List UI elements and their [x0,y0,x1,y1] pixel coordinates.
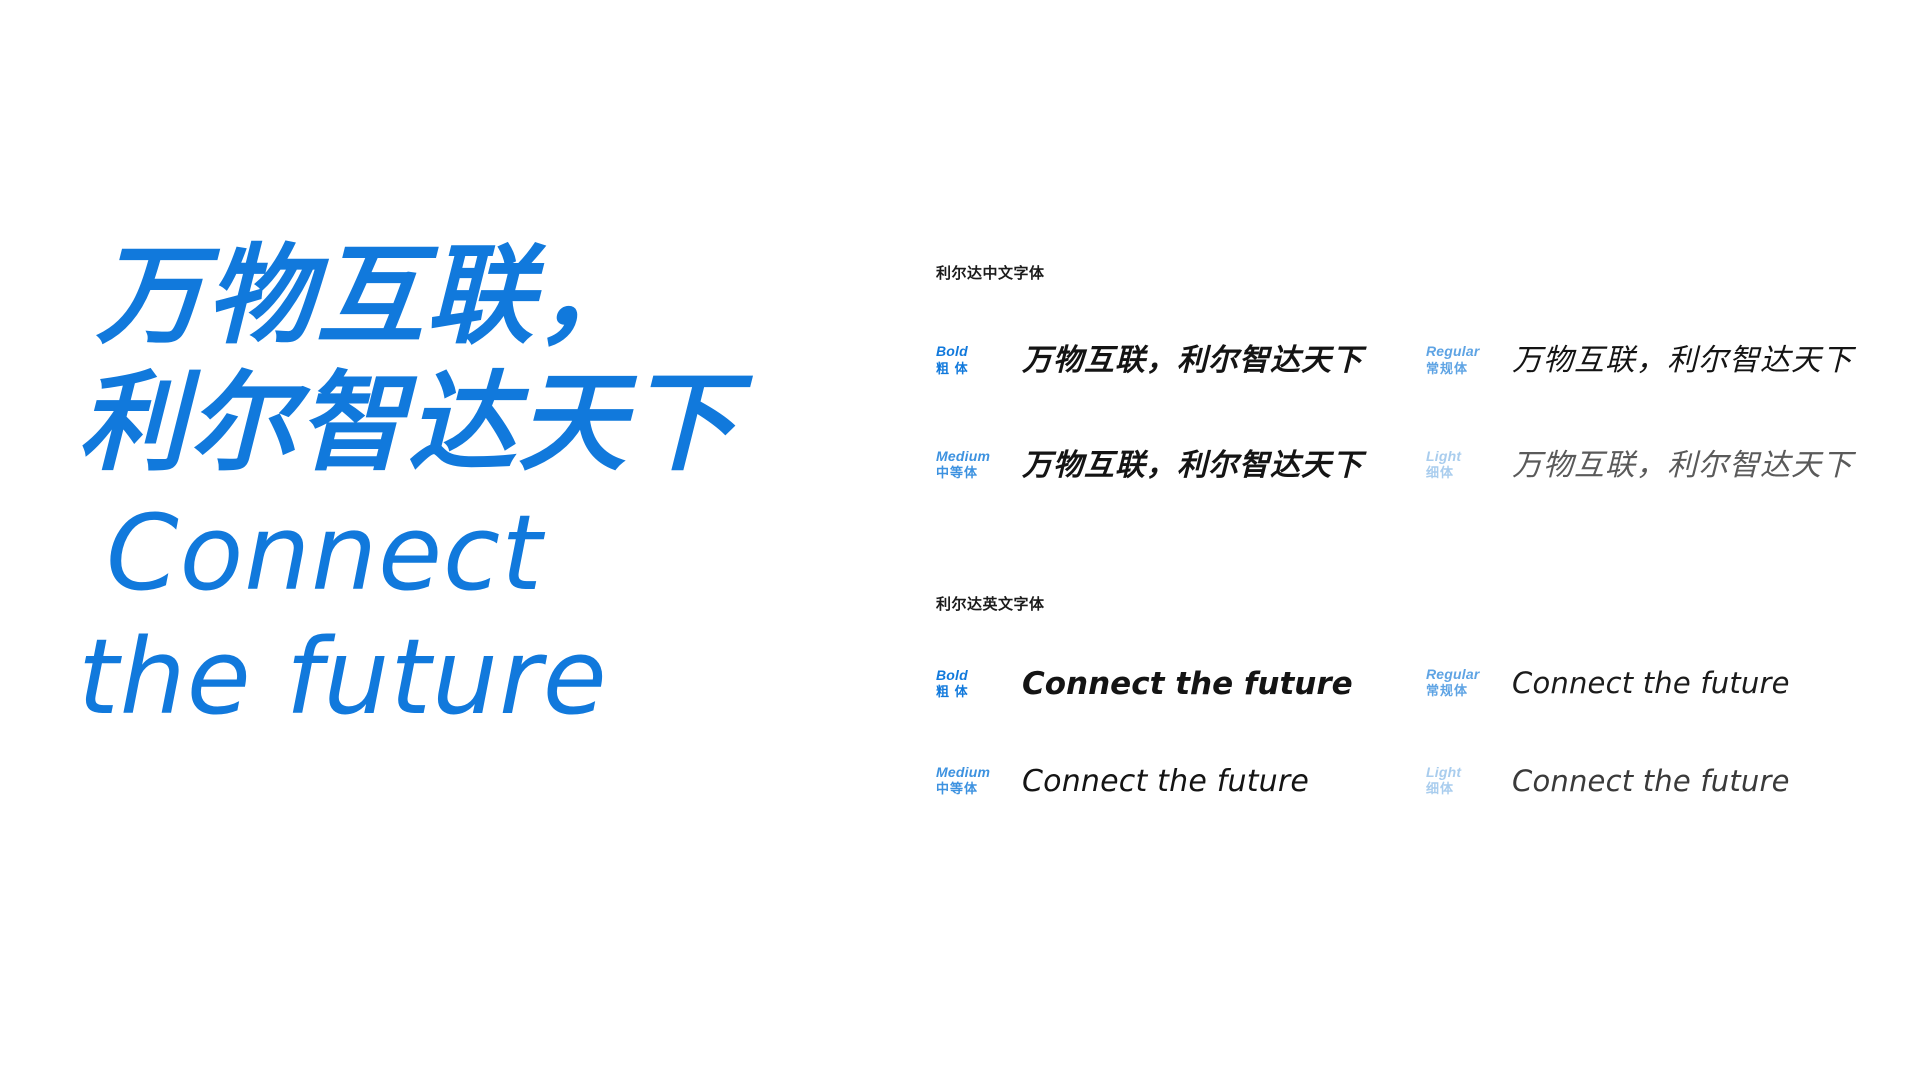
section-english-typeface: 利尔达英文字体 Bold 粗 体 Connect the future Regu… [936,593,1856,811]
weight-label-cn: 细体 [1426,465,1512,480]
specimen-row-cn-regular: Regular 常规体 万物互联，利尔智达天下 [1426,335,1856,390]
specimen-sample-cn-medium: 万物互联，利尔智达天下 [1022,440,1363,484]
weight-label-en: Bold [936,667,1022,684]
weight-label-cn: 粗 体 [936,684,1022,699]
specimen-row-en-bold: Bold 粗 体 Connect the future [936,666,1426,714]
specimen-sample-cn-regular: 万物互联，利尔智达天下 [1512,335,1853,379]
specimen-grid-chinese: Bold 粗 体 万物互联，利尔智达天下 Regular 常规体 万物互联，利尔… [936,335,1856,495]
hero-chinese-line-1: 万物互联， [96,232,856,359]
weight-label-en-regular: Regular 常规体 [1426,666,1512,699]
specimen-sample-cn-light: 万物互联，利尔智达天下 [1512,440,1853,484]
specimen-row-cn-medium: Medium 中等体 万物互联，利尔智达天下 [936,440,1426,495]
weight-label-cn: 常规体 [1426,683,1512,698]
weight-label-en-light: Light 细体 [1426,764,1512,797]
hero-block: 万物互联， 利尔智达天下 Connect the future [96,232,856,736]
weight-label-en: Light [1426,448,1512,465]
hero-english-line-2: the future [78,619,856,735]
specimen-row-en-medium: Medium 中等体 Connect the future [936,764,1426,811]
specimen-row-cn-light: Light 细体 万物互联，利尔智达天下 [1426,440,1856,495]
specimen-grid-english: Bold 粗 体 Connect the future Regular 常规体 … [936,666,1856,811]
weight-label-cn-bold: Bold 粗 体 [936,343,1022,376]
weight-label-cn: 常规体 [1426,361,1512,376]
specimen-sample-cn-bold: 万物互联，利尔智达天下 [1022,335,1363,379]
specimen-sample-en-bold: Connect the future [1022,666,1353,702]
weight-label-en-medium: Medium 中等体 [936,764,1022,797]
weight-label-cn-regular: Regular 常规体 [1426,343,1512,376]
specimen-row-en-regular: Regular 常规体 Connect the future [1426,666,1856,714]
weight-label-cn: 中等体 [936,781,1022,796]
weight-label-cn-medium: Medium 中等体 [936,448,1022,481]
weight-label-en: Medium [936,764,1022,781]
typography-specimen-page: 万物互联， 利尔智达天下 Connect the future 利尔达中文字体 … [0,0,1920,1080]
weight-label-en: Light [1426,764,1512,781]
specimen-panel: 利尔达中文字体 Bold 粗 体 万物互联，利尔智达天下 Regular 常规体… [936,262,1856,810]
weight-label-cn: 中等体 [936,465,1022,480]
section-title-chinese: 利尔达中文字体 [936,262,1856,283]
specimen-sample-en-medium: Connect the future [1022,764,1309,799]
specimen-row-cn-bold: Bold 粗 体 万物互联，利尔智达天下 [936,335,1426,390]
weight-label-cn: 粗 体 [936,361,1022,376]
weight-label-en: Regular [1426,343,1512,360]
weight-label-en-bold: Bold 粗 体 [936,667,1022,700]
specimen-row-en-light: Light 细体 Connect the future [1426,764,1856,811]
weight-label-en: Bold [936,343,1022,360]
specimen-sample-en-regular: Connect the future [1512,666,1790,700]
section-chinese-typeface: 利尔达中文字体 Bold 粗 体 万物互联，利尔智达天下 Regular 常规体… [936,262,1856,495]
weight-label-cn: 细体 [1426,781,1512,796]
hero-chinese-line-2: 利尔智达天下 [78,359,856,486]
weight-label-en: Medium [936,448,1022,465]
weight-label-cn-light: Light 细体 [1426,448,1512,481]
hero-english-line-1: Connect [106,495,856,611]
weight-label-en: Regular [1426,666,1512,683]
section-title-english: 利尔达英文字体 [936,593,1856,614]
specimen-sample-en-light: Connect the future [1512,764,1790,798]
